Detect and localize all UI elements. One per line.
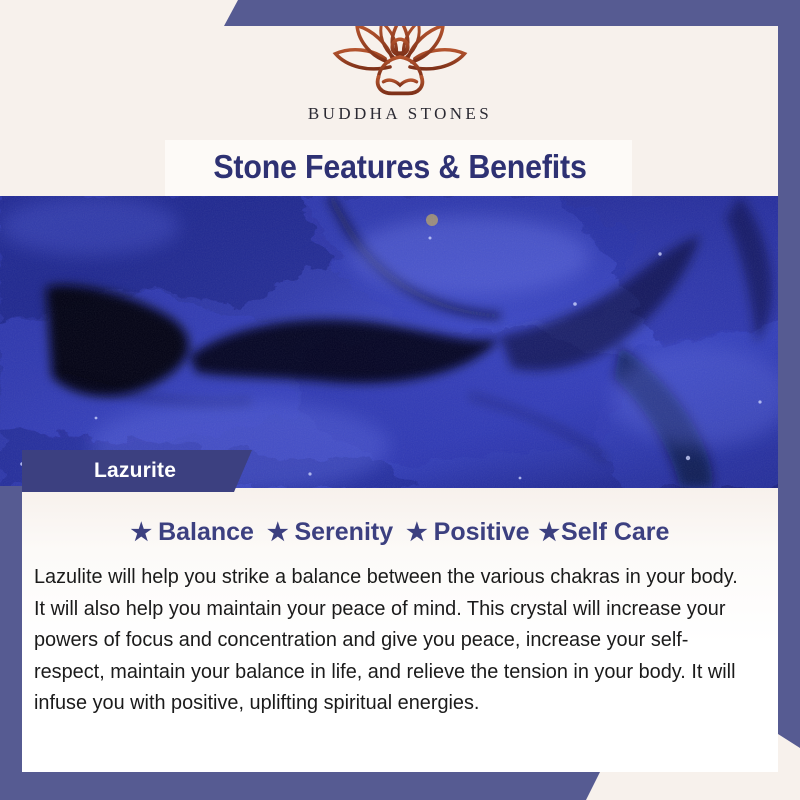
lotus-meditating-figure-icon	[316, 14, 484, 100]
frame-top-bar	[224, 0, 800, 26]
stone-photo-graphic	[0, 196, 800, 488]
stone-name-label: Lazurite	[94, 459, 176, 483]
stone-description: Lazulite will help you strike a balance …	[34, 561, 738, 719]
page-title: Stone Features & Benefits	[32, 148, 768, 186]
frame-left-bar	[0, 486, 22, 772]
stone-name-tag: Lazurite	[22, 450, 252, 492]
frame-bottom-bar	[0, 772, 600, 800]
keyword-item: ★ Positive	[406, 518, 529, 547]
keyword-label: Balance	[158, 518, 254, 547]
stone-info-poster: BUDDHA STONES Stone Features & Benefits	[0, 0, 800, 800]
keyword-label: Positive	[434, 518, 530, 547]
brand-name: BUDDHA STONES	[308, 104, 492, 124]
keyword-item: ★ Serenity	[267, 518, 393, 547]
keyword-label: Self Care	[561, 518, 669, 547]
keyword-item: ★ Balance	[131, 518, 254, 547]
star-icon: ★	[131, 521, 153, 545]
star-icon: ★	[406, 521, 428, 545]
keyword-label: Serenity	[294, 518, 393, 547]
brand-logo: BUDDHA STONES	[0, 14, 800, 142]
frame-right-bar	[778, 0, 800, 748]
keyword-row: ★ Balance ★ Serenity ★ Positive ★ Self C…	[22, 518, 778, 547]
stone-photo	[0, 196, 800, 488]
content-card: ★ Balance ★ Serenity ★ Positive ★ Self C…	[22, 488, 778, 772]
keyword-item: ★ Self Care	[539, 518, 670, 547]
star-icon: ★	[539, 521, 561, 545]
star-icon: ★	[267, 521, 289, 545]
